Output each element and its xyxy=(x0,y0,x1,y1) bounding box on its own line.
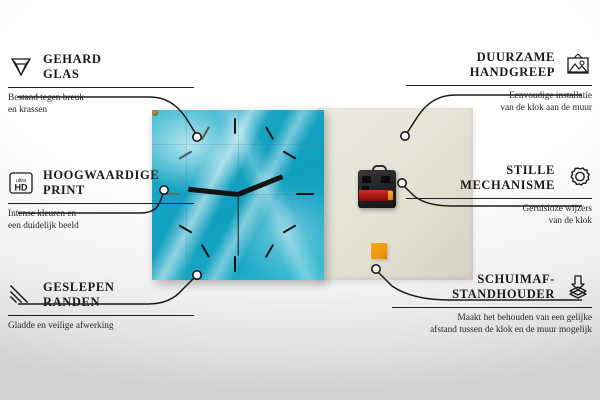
feature-divider xyxy=(406,85,592,86)
feature-duurzame-handgreep: DUURZAME HANDGREEP Eenvoudige installati… xyxy=(406,50,592,115)
beveled-edges-icon xyxy=(8,284,34,306)
feature-header: DUURZAME HANDGREEP xyxy=(406,50,592,81)
connector-dot-schuimaf-standhouder xyxy=(372,265,380,273)
feature-gehard-glas: GEHARD GLAS Bestand tegen breuk en krass… xyxy=(8,52,194,117)
gear-icon xyxy=(564,165,592,191)
feature-subtitle: Maakt het behouden van een gelijke afsta… xyxy=(392,312,592,338)
feature-title: DUURZAME HANDGREEP xyxy=(470,50,555,81)
feature-stille-mechanisme: STILLE MECHANISME Geruisloze wijzers van… xyxy=(406,163,592,228)
picture-frame-icon xyxy=(564,53,592,77)
feature-title-line2: PRINT xyxy=(43,183,159,198)
connector-dot-stille-mechanisme xyxy=(398,179,406,187)
feature-title: SCHUIMAF- STANDHOUDER xyxy=(452,272,555,303)
press-pad-icon xyxy=(564,274,592,300)
feature-schuimaf-standhouder: SCHUIMAF- STANDHOUDER Maakt het behouden… xyxy=(392,272,592,337)
feature-title-line1: SCHUIMAF- xyxy=(452,272,555,287)
connector-dot-geslepen-randen xyxy=(193,271,201,279)
feature-title-line1: DUURZAME xyxy=(470,50,555,65)
feature-title: STILLE MECHANISME xyxy=(460,163,555,194)
feature-divider xyxy=(392,307,592,308)
feature-title-line2: STANDHOUDER xyxy=(452,287,555,302)
feature-title-line2: GLAS xyxy=(43,67,101,82)
feature-header: STILLE MECHANISME xyxy=(406,163,592,194)
feature-header: GEHARD GLAS xyxy=(8,52,194,83)
feature-header: GESLEPEN RANDEN xyxy=(8,280,194,311)
feature-header: SCHUIMAF- STANDHOUDER xyxy=(392,272,592,303)
feature-header: ultra HD HOOGWAARDIGE PRINT xyxy=(8,168,194,199)
feature-title: HOOGWAARDIGE PRINT xyxy=(43,168,159,199)
feature-title-line1: GEHARD xyxy=(43,52,101,67)
feature-divider xyxy=(406,198,592,199)
feature-title-line2: HANDGREEP xyxy=(470,65,555,80)
feature-subtitle: Bestand tegen breuk en krassen xyxy=(8,92,194,118)
feature-divider xyxy=(8,315,194,316)
product-infographic: GEHARD GLAS Bestand tegen breuk en krass… xyxy=(0,0,600,400)
feature-divider xyxy=(8,87,194,88)
feature-subtitle: Intense kleuren en een duidelijk beeld xyxy=(8,208,194,234)
feature-hoogwaardige-print: ultra HD HOOGWAARDIGE PRINT Intense kleu… xyxy=(8,168,194,233)
ultra-hd-icon-bottom-label: HD xyxy=(15,183,28,193)
diamond-icon xyxy=(8,56,34,78)
feature-subtitle: Geruisloze wijzers van de klok xyxy=(406,203,592,229)
feature-title-line1: GESLEPEN xyxy=(43,280,115,295)
feature-divider xyxy=(8,203,194,204)
ultra-hd-icon: ultra HD xyxy=(8,171,34,195)
feature-geslepen-randen: GESLEPEN RANDEN Gladde en veilige afwerk… xyxy=(8,280,194,332)
feature-title-line1: STILLE xyxy=(460,163,555,178)
connector-dot-gehard-glas xyxy=(193,133,201,141)
feature-subtitle: Gladde en veilige afwerking xyxy=(8,320,194,333)
feature-title: GEHARD GLAS xyxy=(43,52,101,83)
feature-title-line1: HOOGWAARDIGE xyxy=(43,168,159,183)
feature-title-line2: RANDEN xyxy=(43,295,115,310)
feature-subtitle: Eenvoudige installatie van de klok aan d… xyxy=(406,90,592,116)
feature-title-line2: MECHANISME xyxy=(460,178,555,193)
connector-dot-duurzame-handgreep xyxy=(401,132,409,140)
feature-title: GESLEPEN RANDEN xyxy=(43,280,115,311)
